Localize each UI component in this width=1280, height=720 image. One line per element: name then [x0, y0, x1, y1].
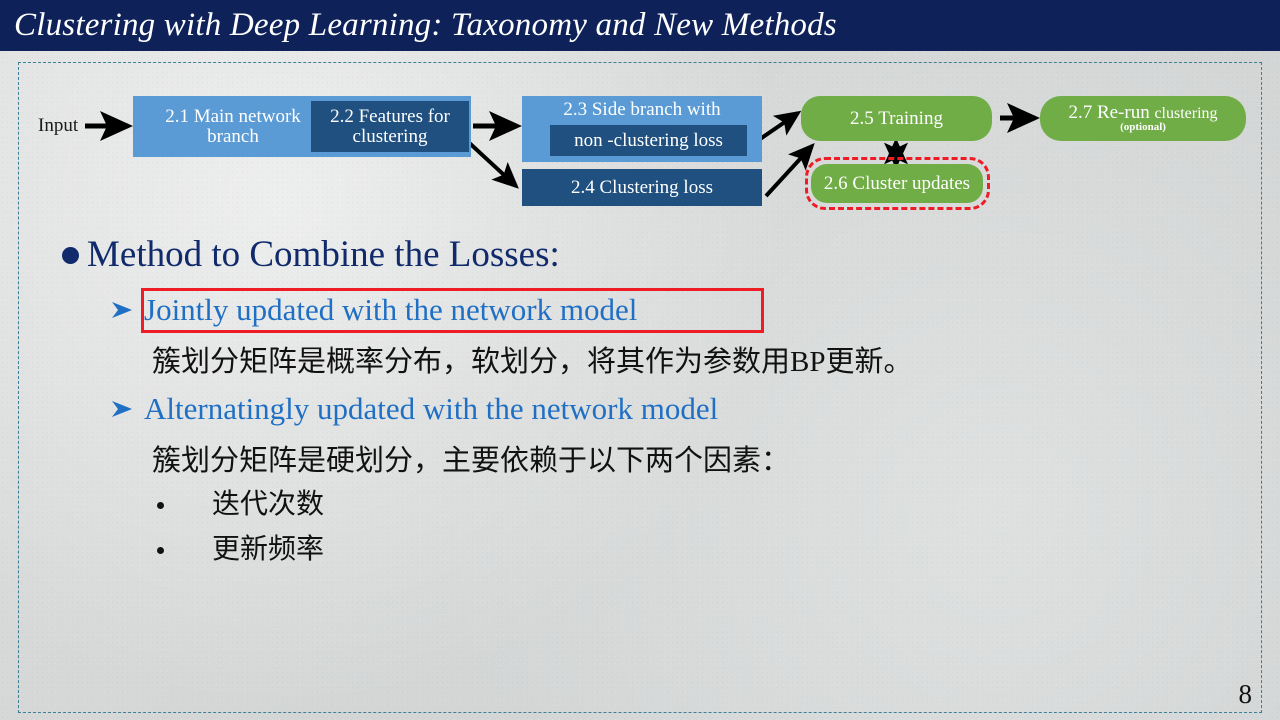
- sub-point-detail-alternatingly: 簇划分矩阵是硬划分，主要依赖于以下两个因素：: [152, 443, 790, 479]
- arrow-bullet-icon: [110, 300, 134, 320]
- arrow-bullet-icon: [110, 399, 134, 419]
- page-number: 8: [1239, 679, 1253, 710]
- title-bar: Clustering with Deep Learning: Taxonomy …: [0, 0, 1280, 51]
- bullet-dot-icon: [62, 247, 79, 264]
- sub-point-alternatingly-updated: Alternatingly updated with the network m…: [110, 390, 718, 428]
- factor-list-item: 迭代次数: [157, 488, 324, 522]
- factor-list-item: 更新频率: [157, 533, 324, 567]
- heading-row: Method to Combine the Losses:: [62, 233, 560, 277]
- jointly-updated-highlight: [141, 288, 764, 333]
- sub-point-label: Alternatingly updated with the network m…: [144, 390, 718, 428]
- bullet-dot-icon: [157, 502, 164, 509]
- section-heading: Method to Combine the Losses:: [87, 233, 560, 277]
- factor-label: 迭代次数: [212, 488, 324, 522]
- slide-title: Clustering with Deep Learning: Taxonomy …: [14, 3, 837, 48]
- factor-label: 更新频率: [212, 533, 324, 567]
- sub-point-detail-jointly: 簇划分矩阵是概率分布，软划分，将其作为参数用BP更新。: [152, 344, 912, 380]
- body-content: Method to Combine the Losses: Jointly up…: [0, 0, 1280, 720]
- bullet-dot-icon: [157, 547, 164, 554]
